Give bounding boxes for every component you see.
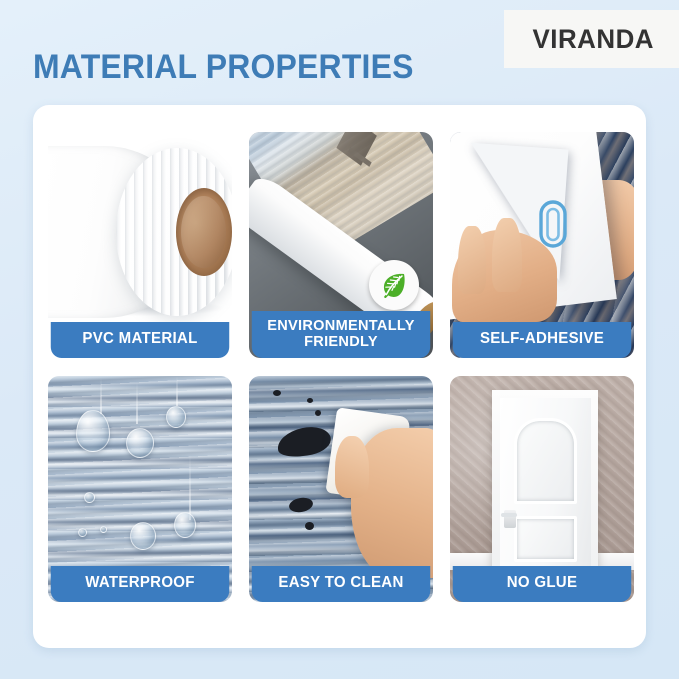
paperclip-overlay [536,198,570,255]
feature-label-self-adhesive: SELF-ADHESIVE [453,322,631,358]
water-droplet [130,522,156,550]
door-frame [492,390,598,568]
water-droplet [78,528,87,537]
feature-panel-waterproof[interactable]: WATERPROOF [48,376,232,602]
water-droplet [76,410,110,452]
hand-holding-cloth [351,428,433,578]
feature-label-environmentally-friendly: ENVIRONMENTALLY FRIENDLY [252,311,430,358]
page-title: MATERIAL PROPERTIES [33,48,414,87]
feature-label-line: ENVIRONMENTALLY [256,318,427,334]
water-droplet [166,406,186,428]
feature-label-line: NO GLUE [457,575,628,592]
brand-name: VIRANDA [532,24,653,55]
feature-panel-environmentally-friendly[interactable]: ENVIRONMENTALLY FRIENDLY [249,132,433,358]
feature-panel-self-adhesive[interactable]: SELF-ADHESIVE [450,132,634,358]
feature-grid: PVC MATERIAL [48,132,631,602]
paperclip-icon [536,198,570,250]
brand-logo-box: VIRANDA [504,10,679,68]
droplet-trail [100,378,102,414]
stain-spot [307,398,313,403]
feature-panel-pvc-material[interactable]: PVC MATERIAL [48,132,232,358]
droplet-trail [189,454,191,520]
feature-label-easy-to-clean: EASY TO CLEAN [252,566,430,602]
feature-label-line: FRIENDLY [256,334,427,350]
pier-detail [336,132,376,166]
feature-label-line: PVC MATERIAL [55,331,226,348]
roll-cardboard-core [176,188,232,276]
green-leaf-icon [377,268,411,302]
feature-label-no-glue: NO GLUE [453,566,631,602]
water-droplet [126,428,154,458]
door-handle [504,510,516,528]
stain-spot [315,410,321,416]
door-panel-top [514,418,577,504]
feature-card: PVC MATERIAL [33,105,646,648]
feature-panel-no-glue[interactable]: NO GLUE [450,376,634,602]
stain-spot [305,522,314,530]
feature-label-pvc-material: PVC MATERIAL [51,322,229,358]
door-panel-bottom [514,516,577,562]
feature-label-line: SELF-ADHESIVE [457,331,628,348]
water-droplet [174,512,196,538]
feature-label-waterproof: WATERPROOF [51,566,229,602]
water-droplet [100,526,107,533]
feature-panel-easy-to-clean[interactable]: EASY TO CLEAN [249,376,433,602]
eco-badge [369,260,419,310]
stain-spot [273,390,281,396]
droplet-trail [176,376,178,406]
droplet-trail [136,382,138,424]
feature-label-line: WATERPROOF [55,575,226,592]
water-droplet [84,492,95,503]
feature-label-line: EASY TO CLEAN [256,575,427,592]
white-door [500,398,591,568]
